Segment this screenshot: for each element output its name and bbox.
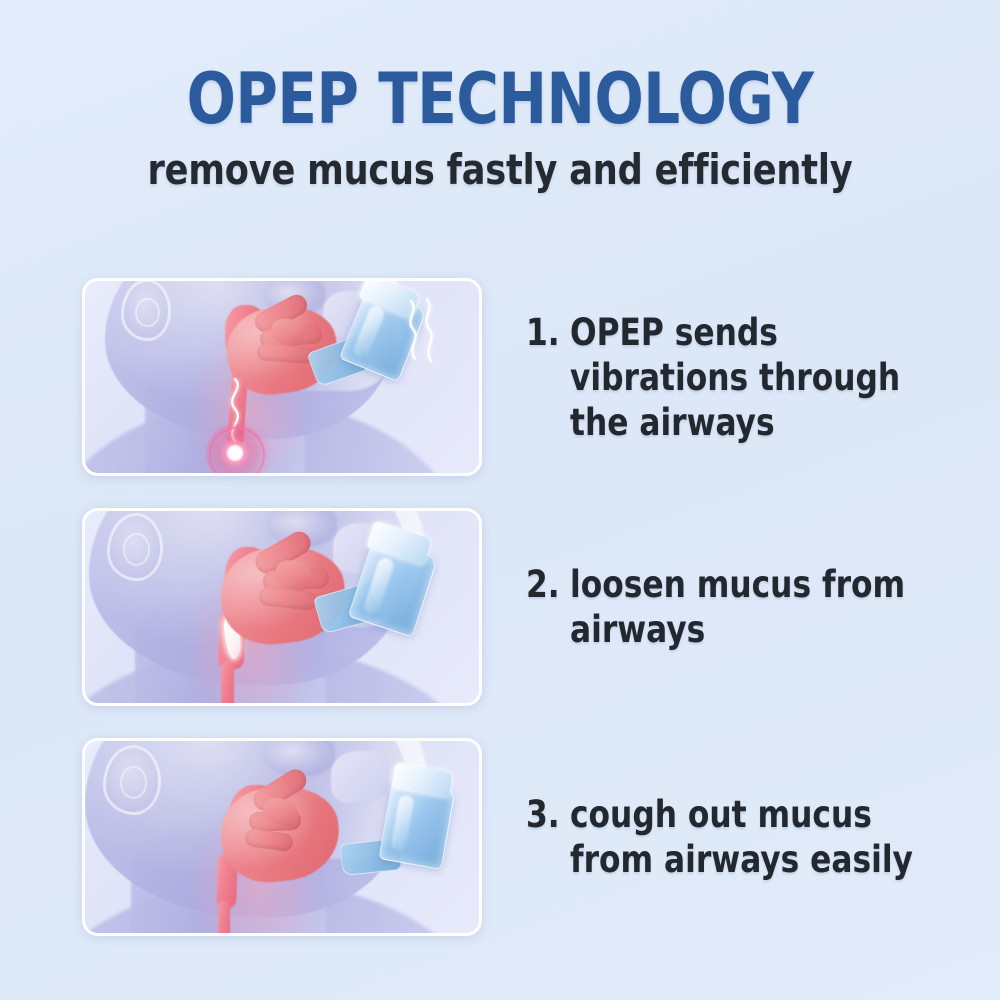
ear-shape xyxy=(107,513,163,581)
step-label: OPEP sends vibrations through the airway… xyxy=(570,310,933,445)
page-subtitle: remove mucus fastly and efficiently xyxy=(35,146,965,194)
poster-root: OPEP TECHNOLOGY remove mucus fastly and … xyxy=(0,0,1000,1000)
illustration-canvas xyxy=(85,281,479,473)
nose-shape xyxy=(331,751,389,803)
step-row: 1. OPEP sends vibrations through the air… xyxy=(0,277,1000,477)
vibration-waves-device xyxy=(403,297,449,369)
step-number: 3. xyxy=(526,792,567,837)
step-number: 1. xyxy=(526,310,567,355)
step-number: 2. xyxy=(526,562,567,607)
pulse-marker xyxy=(206,424,264,473)
illustration-canvas xyxy=(85,511,479,703)
step-label: loosen mucus from airways xyxy=(570,562,933,652)
step-illustration-2 xyxy=(82,508,482,706)
heading-block: OPEP TECHNOLOGY remove mucus fastly and … xyxy=(0,62,1000,194)
step-illustration-3 xyxy=(82,738,482,936)
step-text-2: 2. loosen mucus from airways xyxy=(526,562,956,652)
step-illustration-1 xyxy=(82,278,482,476)
step-label: cough out mucus from airways easily xyxy=(570,792,933,882)
trachea-lower xyxy=(218,901,230,933)
illustration-canvas xyxy=(85,741,479,933)
ear-shape xyxy=(121,281,171,341)
steps-list: 1. OPEP sends vibrations through the air… xyxy=(0,277,1000,937)
step-row: 2. loosen mucus from airways xyxy=(0,507,1000,707)
trachea-lower xyxy=(221,661,234,703)
step-row: 3. cough out mucus from airways easily xyxy=(0,737,1000,937)
page-title: OPEP TECHNOLOGY xyxy=(40,62,960,136)
step-text-3: 3. cough out mucus from airways easily xyxy=(526,792,956,882)
step-text-1: 1. OPEP sends vibrations through the air… xyxy=(526,310,956,445)
ear-shape xyxy=(103,745,161,815)
